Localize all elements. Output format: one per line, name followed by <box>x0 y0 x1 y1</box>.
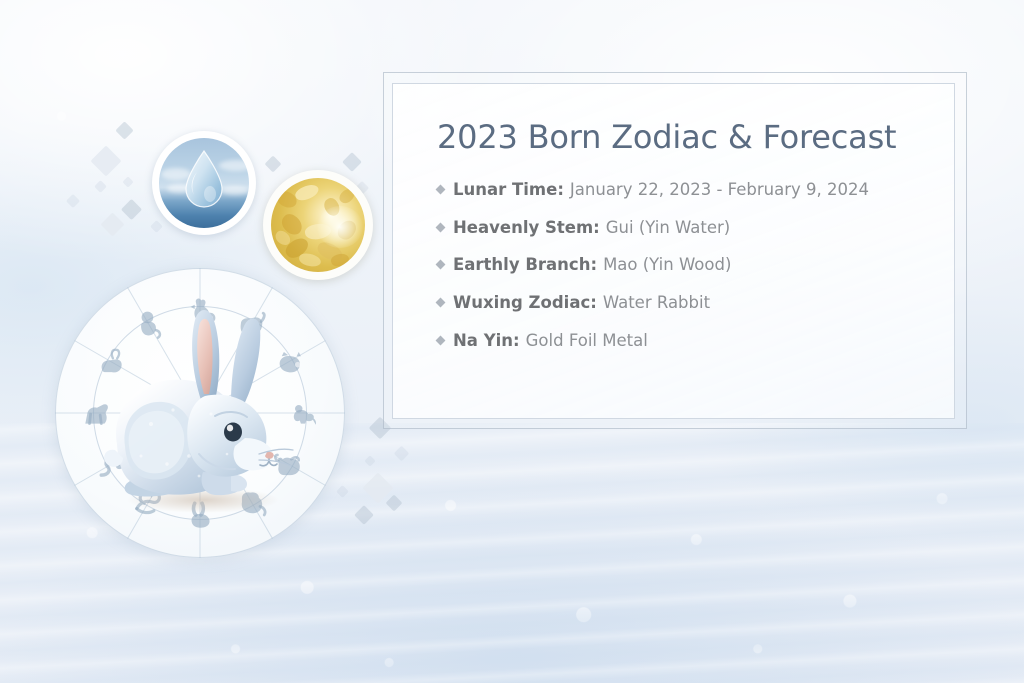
gold-foil-emblem <box>263 170 373 280</box>
fact-label: Na Yin: <box>453 331 520 352</box>
bullet-diamond-icon <box>436 185 446 195</box>
list-item: Earthly Branch: Mao (Yin Wood) <box>437 255 924 276</box>
water-emblem-disc <box>159 138 249 228</box>
fact-value: Mao (Yin Wood) <box>603 255 731 276</box>
fact-label: Heavenly Stem: <box>453 218 600 239</box>
poster-canvas: 2023 Born Zodiac & Forecast Lunar Time: … <box>0 0 1024 683</box>
list-item: Na Yin: Gold Foil Metal <box>437 331 924 352</box>
bullet-diamond-icon <box>436 297 446 307</box>
zodiac-fact-list: Lunar Time: January 22, 2023 - February … <box>437 180 924 351</box>
list-item: Lunar Time: January 22, 2023 - February … <box>437 180 924 201</box>
chinese-zodiac-wheel <box>55 268 345 558</box>
gold-emblem-disc <box>271 178 365 272</box>
bullet-diamond-icon <box>436 222 446 232</box>
fact-label: Wuxing Zodiac: <box>453 293 597 314</box>
fact-value: Gold Foil Metal <box>526 331 648 352</box>
water-drop-emblem <box>152 131 256 235</box>
fact-value: January 22, 2023 - February 9, 2024 <box>570 180 869 201</box>
water-droplet-icon <box>183 150 225 208</box>
list-item: Wuxing Zodiac: Water Rabbit <box>437 293 924 314</box>
bullet-diamond-icon <box>436 260 446 270</box>
bullet-diamond-icon <box>436 335 446 345</box>
list-item: Heavenly Stem: Gui (Yin Water) <box>437 218 924 239</box>
fact-value: Gui (Yin Water) <box>606 218 731 239</box>
rabbit-illustration <box>81 304 319 518</box>
fact-label: Earthly Branch: <box>453 255 597 276</box>
fact-value: Water Rabbit <box>603 293 710 314</box>
info-panel: 2023 Born Zodiac & Forecast Lunar Time: … <box>392 83 955 419</box>
page-title: 2023 Born Zodiac & Forecast <box>437 118 924 156</box>
fact-label: Lunar Time: <box>453 180 564 201</box>
